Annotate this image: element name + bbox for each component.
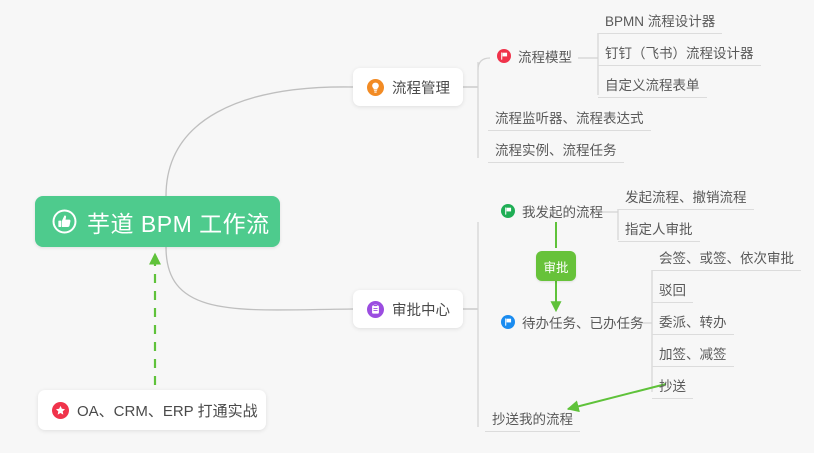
mindmap-canvas: 芋道 BPM 工作流 流程管理 审批中心	[0, 0, 814, 453]
leaf-cc-to-me-processes-label: 抄送我的流程	[492, 408, 573, 428]
leaf-reject[interactable]: 驳回	[652, 279, 693, 303]
branch-node-process-management-label: 流程管理	[392, 77, 450, 98]
leaf-reject-label: 驳回	[659, 279, 686, 299]
footer-node-oa-crm-erp[interactable]: OA、CRM、ERP 打通实战	[38, 390, 266, 430]
footer-node-label: OA、CRM、ERP 打通实战	[77, 400, 258, 421]
leaf-assignee-approval[interactable]: 指定人审批	[618, 218, 700, 242]
leaf-start-cancel-process-label: 发起流程、撤销流程	[625, 186, 747, 206]
branch-node-process-management[interactable]: 流程管理	[353, 68, 463, 106]
leaf-add-remove-sign-label: 加签、减签	[659, 343, 727, 363]
leaf-process-listener-expression[interactable]: 流程监听器、流程表达式	[488, 107, 651, 131]
leaf-dingtalk-feishu-designer[interactable]: 钉钉（飞书）流程设计器	[598, 42, 761, 66]
leaf-add-remove-sign[interactable]: 加签、减签	[652, 343, 734, 367]
flag-icon	[497, 49, 511, 63]
root-node[interactable]: 芋道 BPM 工作流	[35, 196, 280, 247]
leaf-process-listener-expression-label: 流程监听器、流程表达式	[495, 107, 644, 127]
sub-branch-todo-done-tasks[interactable]: 待办任务、已办任务	[494, 312, 651, 335]
root-node-label: 芋道 BPM 工作流	[87, 205, 270, 239]
sub-branch-todo-done-tasks-label: 待办任务、已办任务	[522, 312, 644, 332]
leaf-cc[interactable]: 抄送	[652, 375, 693, 399]
star-icon	[52, 402, 69, 419]
branch-node-approval-center[interactable]: 审批中心	[353, 290, 463, 328]
leaf-delegate-transfer-label: 委派、转办	[659, 311, 727, 331]
approval-tag-label: 审批	[543, 257, 568, 276]
approval-tag[interactable]: 审批	[536, 251, 576, 281]
sub-branch-my-initiated-processes[interactable]: 我发起的流程	[494, 201, 610, 224]
leaf-countersign-orsign-sequential-label: 会签、或签、依次审批	[659, 247, 794, 267]
wire-root-to-approval-center	[166, 247, 353, 310]
leaf-bpmn-designer-label: BPMN 流程设计器	[605, 10, 715, 30]
leaf-process-instance-task[interactable]: 流程实例、流程任务	[488, 139, 624, 163]
leaf-dingtalk-feishu-designer-label: 钉钉（飞书）流程设计器	[605, 42, 754, 62]
leaf-start-cancel-process[interactable]: 发起流程、撤销流程	[618, 186, 754, 210]
clipboard-icon	[367, 301, 384, 318]
leaf-bpmn-designer[interactable]: BPMN 流程设计器	[598, 10, 722, 34]
leaf-assignee-approval-label: 指定人审批	[625, 218, 693, 238]
leaf-countersign-orsign-sequential[interactable]: 会签、或签、依次审批	[652, 247, 801, 271]
branch-node-approval-center-label: 审批中心	[392, 299, 450, 320]
wire-root-to-process-management	[166, 87, 353, 196]
leaf-process-instance-task-label: 流程实例、流程任务	[495, 139, 617, 159]
wire-elbow-process-model	[478, 58, 490, 70]
leaf-custom-process-form-label: 自定义流程表单	[605, 74, 700, 94]
sub-branch-my-initiated-processes-label: 我发起的流程	[522, 201, 603, 221]
thumbs-up-icon	[52, 209, 77, 234]
leaf-custom-process-form[interactable]: 自定义流程表单	[598, 74, 707, 98]
sub-branch-process-model-label: 流程模型	[518, 46, 572, 66]
flag-icon	[501, 315, 515, 329]
flag-icon	[501, 204, 515, 218]
lightbulb-pin-icon	[367, 79, 384, 96]
leaf-cc-label: 抄送	[659, 375, 686, 395]
leaf-delegate-transfer[interactable]: 委派、转办	[652, 311, 734, 335]
sub-branch-process-model[interactable]: 流程模型	[490, 46, 579, 69]
leaf-cc-to-me-processes[interactable]: 抄送我的流程	[485, 408, 580, 432]
